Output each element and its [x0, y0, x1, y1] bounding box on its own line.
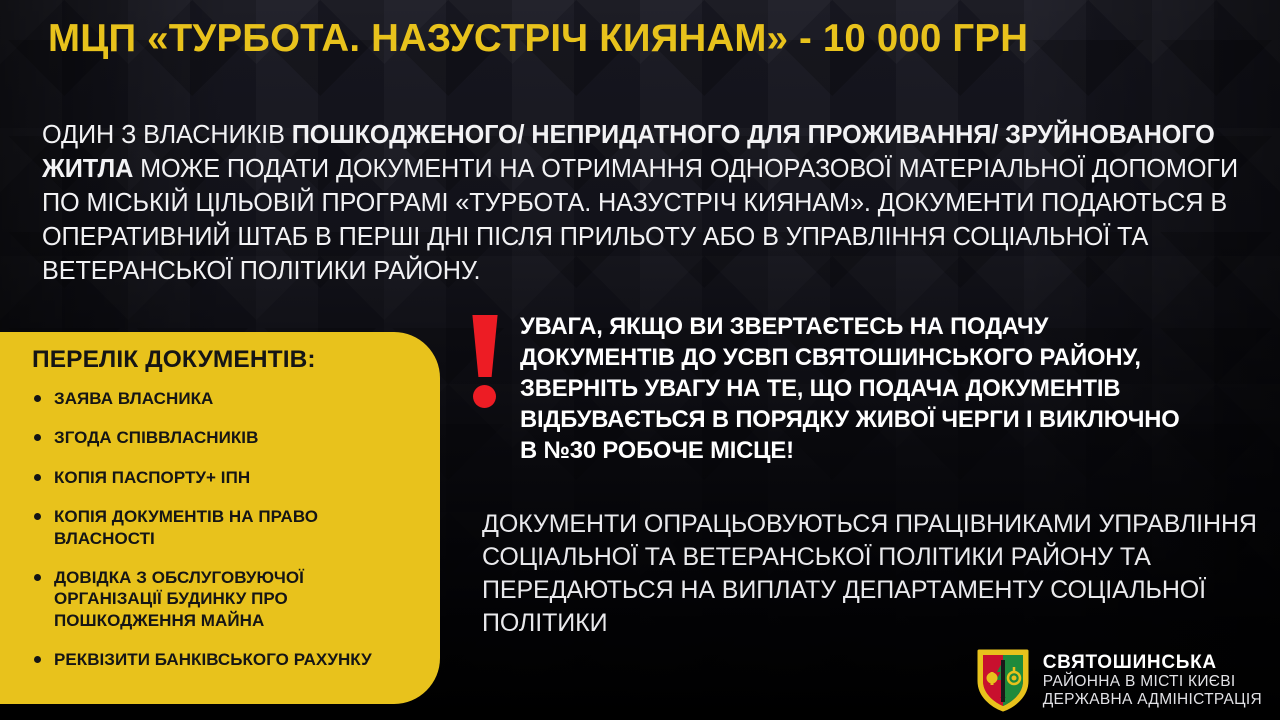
list-item: ДОВІДКА З ОБСЛУГОВУЮЧОЇ ОРГАНІЗАЦІЇ БУДИ… [32, 567, 416, 631]
processing-paragraph: ДОКУМЕНТИ ОПРАЦЬОВУЮТЬСЯ ПРАЦІВНИКАМИ УП… [482, 508, 1272, 640]
footer-org-subtitle-1: РАЙОННА В МІСТІ КИЄВІ [1043, 673, 1262, 690]
infographic-poster: МЦП «ТУРБОТА. НАЗУСТРІЧ КИЯНАМ» - 10 000… [0, 0, 1280, 720]
documents-card-content: ПЕРЕЛІК ДОКУМЕНТІВ: ЗАЯВА ВЛАСНИКА ЗГОДА… [32, 346, 416, 671]
footer-logo-text: СВЯТОШИНСЬКА РАЙОННА В МІСТІ КИЄВІ ДЕРЖА… [1043, 652, 1262, 708]
list-item: КОПІЯ ПАСПОРТУ+ ІПН [32, 467, 416, 488]
exclamation-mark-stem [470, 315, 500, 377]
intro-text-part-1: ОДИН З ВЛАСНИКІВ [42, 121, 292, 149]
list-item: ЗГОДА СПІВВЛАСНИКІВ [32, 427, 416, 448]
intro-paragraph: ОДИН З ВЛАСНИКІВ ПОШКОДЖЕНОГО/ НЕПРИДАТН… [42, 118, 1240, 288]
list-item: РЕКВІЗИТИ БАНКІВСЬКОГО РАХУНКУ [32, 649, 416, 670]
list-item: ЗАЯВА ВЛАСНИКА [32, 388, 416, 409]
list-item: КОПІЯ ДОКУМЕНТІВ НА ПРАВО ВЛАСНОСТІ [32, 506, 416, 549]
footer-branding: СВЯТОШИНСЬКА РАЙОННА В МІСТІ КИЄВІ ДЕРЖА… [976, 648, 1262, 712]
documents-list-heading: ПЕРЕЛІК ДОКУМЕНТІВ: [32, 346, 416, 374]
svyatoshynskyi-coat-of-arms-icon [976, 648, 1030, 712]
footer-org-name: СВЯТОШИНСЬКА [1043, 652, 1262, 673]
page-title: МЦП «ТУРБОТА. НАЗУСТРІЧ КИЯНАМ» - 10 000… [48, 18, 1230, 60]
footer-org-subtitle-2: ДЕРЖАВНА АДМІНІСТРАЦІЯ [1043, 691, 1262, 708]
exclamation-mark-icon [466, 315, 504, 407]
warning-text: УВАГА, ЯКЩО ВИ ЗВЕРТАЄТЕСЬ НА ПОДАЧУ ДОК… [520, 312, 1199, 467]
documents-list: ЗАЯВА ВЛАСНИКА ЗГОДА СПІВВЛАСНИКІВ КОПІЯ… [32, 388, 416, 671]
warning-notice: УВАГА, ЯКЩО ВИ ЗВЕРТАЄТЕСЬ НА ПОДАЧУ ДОК… [466, 312, 1206, 467]
documents-list-card: ПЕРЕЛІК ДОКУМЕНТІВ: ЗАЯВА ВЛАСНИКА ЗГОДА… [0, 332, 440, 704]
intro-text-part-2: МОЖЕ ПОДАТИ ДОКУМЕНТИ НА ОТРИМАННЯ ОДНОР… [42, 155, 1238, 285]
exclamation-mark-dot [473, 385, 496, 408]
